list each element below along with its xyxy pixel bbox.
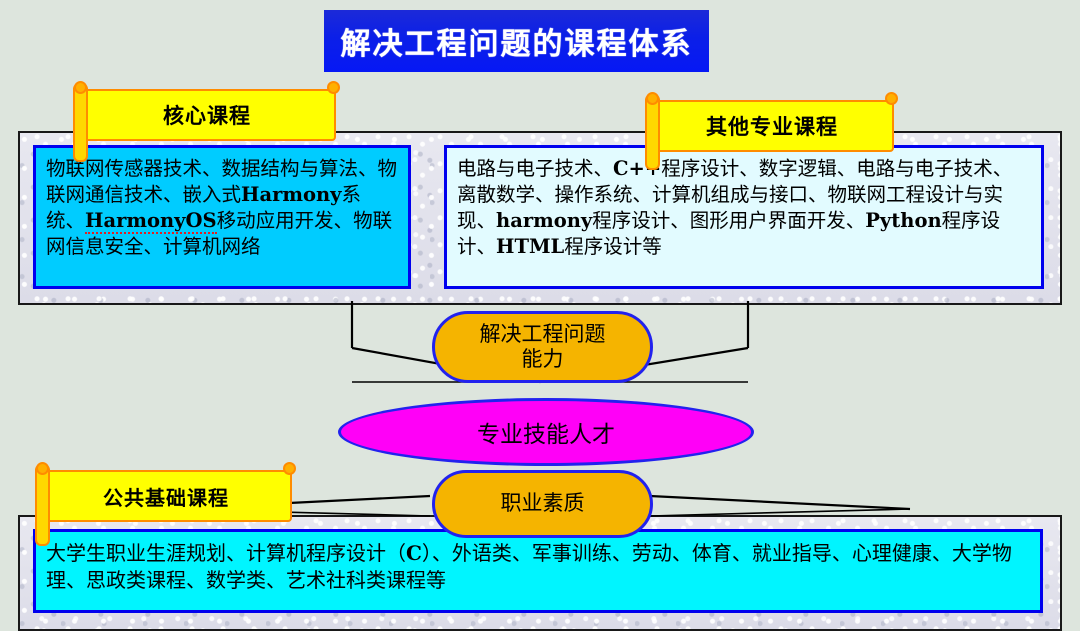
scroll-pin-icon (74, 81, 87, 94)
node-professional-quality-text: 职业素质 (501, 491, 585, 516)
node-engineering-ability: 解决工程问题能力 (432, 311, 653, 383)
label-core-courses-text: 核心课程 (80, 100, 334, 130)
diagram-canvas: 解决工程问题的课程体系 物联网传感器技术、数据结构与算法、物联网通信技术、嵌入式… (0, 0, 1080, 631)
label-core-courses: 核心课程 (78, 89, 336, 141)
label-public-courses: 公共基础课程 (40, 470, 292, 522)
scroll-pin-icon (36, 462, 49, 475)
node-professional-quality: 职业素质 (432, 470, 653, 538)
label-other-courses-text: 其他专业课程 (652, 111, 892, 141)
scroll-pin-icon (327, 81, 340, 94)
label-public-courses-text: 公共基础课程 (42, 482, 290, 511)
scroll-pin-icon (885, 92, 898, 105)
node-skilled-talent: 专业技能人才 (338, 398, 754, 466)
node-skilled-talent-text: 专业技能人才 (477, 415, 615, 449)
scroll-rod-icon (73, 83, 88, 162)
scroll-pin-icon (646, 92, 659, 105)
node-engineering-ability-text: 解决工程问题能力 (480, 322, 606, 372)
scroll-rod-icon (35, 464, 50, 546)
scroll-rod-icon (645, 94, 660, 170)
connector-quality-right-brace (650, 509, 910, 516)
scroll-pin-icon (283, 462, 296, 475)
connector-quality-right (650, 496, 910, 509)
label-other-courses: 其他专业课程 (650, 100, 894, 152)
